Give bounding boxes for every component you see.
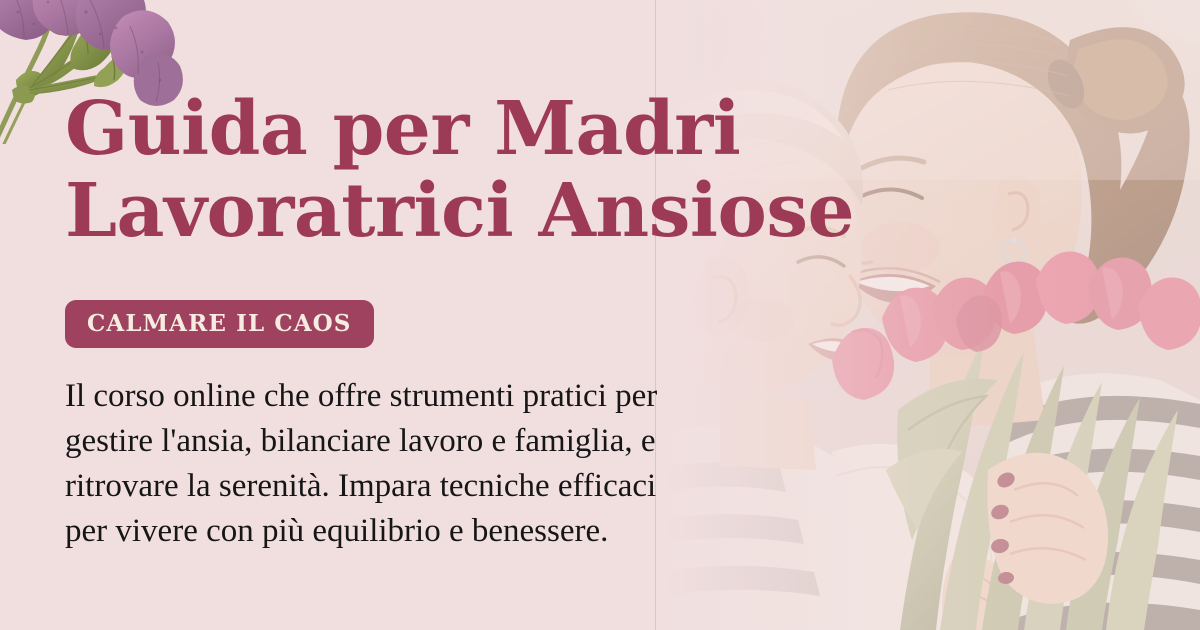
description-line-1: Il corso online che offre strumenti prat… (65, 374, 855, 419)
page-title-line-2: Lavoratrici Ansiose (65, 170, 925, 252)
description-line-2: gestire l'ansia, bilanciare lavoro e fam… (65, 419, 855, 464)
status-badge: CALMARE IL CAOS (65, 300, 374, 348)
banner-content: Guida per Madri Lavoratrici Ansiose CALM… (65, 0, 925, 630)
description-line-4: per vivere con più equilibrio e benesser… (65, 509, 855, 554)
page-title: Guida per Madri Lavoratrici Ansiose (65, 88, 925, 252)
description-line-3: ritrovare la serenità. Impara tecniche e… (65, 464, 855, 509)
promo-banner: Guida per Madri Lavoratrici Ansiose CALM… (0, 0, 1200, 630)
page-title-line-1: Guida per Madri (65, 88, 925, 170)
banner-description: Il corso online che offre strumenti prat… (65, 374, 855, 554)
